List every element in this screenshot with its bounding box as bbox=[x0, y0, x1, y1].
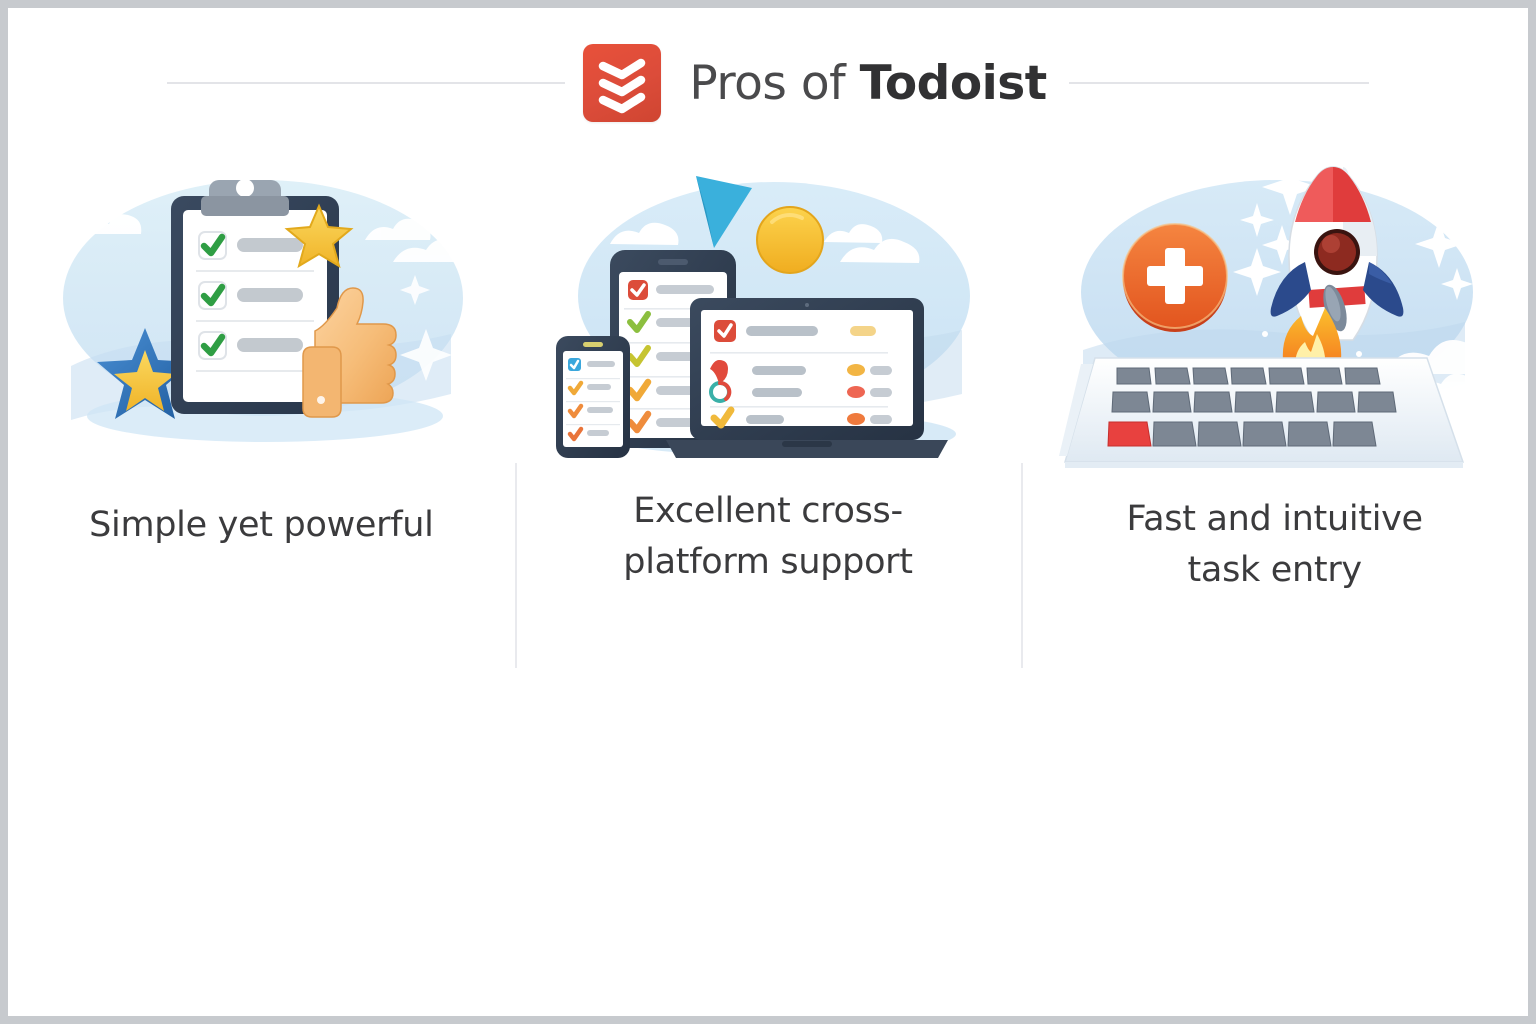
todoist-logo-icon bbox=[583, 44, 661, 122]
header-rule-right bbox=[1069, 82, 1369, 84]
page-title-bold: Todoist bbox=[860, 56, 1047, 111]
pro-item-simple-yet-powerful: Simple yet powerful bbox=[8, 158, 515, 551]
pro-caption-3: Fast and intuitive task entry bbox=[1095, 494, 1455, 596]
page-title: Pros of Todoist bbox=[689, 56, 1046, 111]
pro-caption-1: Simple yet powerful bbox=[81, 500, 441, 551]
pro-item-cross-platform: Excellent cross-platform support bbox=[515, 158, 1022, 588]
page-canvas: Pros of Todoist bbox=[8, 8, 1528, 1016]
illustration-rocket-keyboard bbox=[1055, 158, 1495, 468]
illustration-devices bbox=[548, 158, 988, 468]
pro-caption-2: Excellent cross-platform support bbox=[588, 486, 948, 588]
header-rule-left bbox=[167, 82, 565, 84]
pro-item-fast-task-entry: Fast and intuitive task entry bbox=[1021, 158, 1528, 596]
brand-lockup: Pros of Todoist bbox=[565, 44, 1064, 122]
header: Pros of Todoist bbox=[8, 38, 1528, 128]
page-title-regular: Pros of bbox=[689, 56, 859, 111]
illustration-clipboard-checklist bbox=[41, 158, 481, 468]
pros-panel-row: Simple yet powerful bbox=[8, 158, 1528, 596]
